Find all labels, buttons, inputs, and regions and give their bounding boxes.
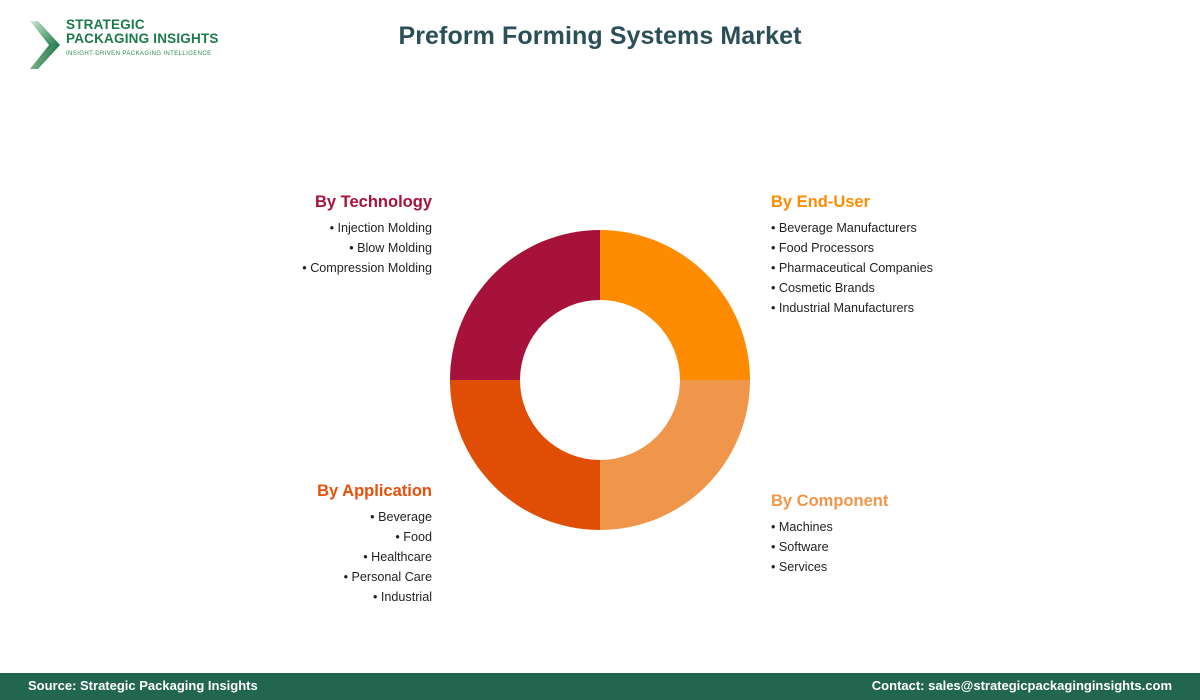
segment-block-application: By Application • Beverage• Food• Healthc… <box>188 482 432 607</box>
list-item: • Industrial <box>188 587 432 607</box>
footer-contact-text: Contact: sales@strategicpackaginginsight… <box>872 678 1172 693</box>
list-item: • Food Processors <box>771 238 1031 258</box>
list-item: • Personal Care <box>188 567 432 587</box>
segment-block-technology: By Technology • Injection Molding• Blow … <box>188 193 432 278</box>
segment-list-component: • Machines• Software• Services <box>771 517 1031 577</box>
list-item: • Food <box>188 527 432 547</box>
page-title: Preform Forming Systems Market <box>0 22 1200 51</box>
segment-title-end-user: By End-User <box>771 193 1031 212</box>
footer-source-text: Source: Strategic Packaging Insights <box>28 678 258 693</box>
segment-list-application: • Beverage• Food• Healthcare• Personal C… <box>188 507 432 607</box>
list-item: • Software <box>771 537 1031 557</box>
segment-block-end-user: By End-User • Beverage Manufacturers• Fo… <box>771 193 1031 318</box>
donut-chart <box>450 230 750 530</box>
list-item: • Pharmaceutical Companies <box>771 258 1031 278</box>
list-item: • Compression Molding <box>188 258 432 278</box>
list-item: • Industrial Manufacturers <box>771 298 1031 318</box>
donut-chart-svg <box>450 230 750 530</box>
list-item: • Beverage <box>188 507 432 527</box>
segment-title-application: By Application <box>188 482 432 501</box>
segment-block-component: By Component • Machines• Software• Servi… <box>771 492 1031 577</box>
list-item: • Machines <box>771 517 1031 537</box>
list-item: • Beverage Manufacturers <box>771 218 1031 238</box>
list-item: • Cosmetic Brands <box>771 278 1031 298</box>
segment-list-end-user: • Beverage Manufacturers• Food Processor… <box>771 218 1031 318</box>
segment-title-component: By Component <box>771 492 1031 511</box>
segment-list-technology: • Injection Molding• Blow Molding• Compr… <box>188 218 432 278</box>
logo-tagline: INSIGHT-DRIVEN PACKAGING INTELLIGENCE <box>66 50 226 57</box>
footer-bar: Source: Strategic Packaging Insights Con… <box>0 673 1200 700</box>
list-item: • Services <box>771 557 1031 577</box>
header: STRATEGIC PACKAGING INSIGHTS INSIGHT-DRI… <box>0 0 1200 90</box>
list-item: • Healthcare <box>188 547 432 567</box>
donut-hole <box>520 300 680 460</box>
list-item: • Blow Molding <box>188 238 432 258</box>
list-item: • Injection Molding <box>188 218 432 238</box>
segment-title-technology: By Technology <box>188 193 432 212</box>
